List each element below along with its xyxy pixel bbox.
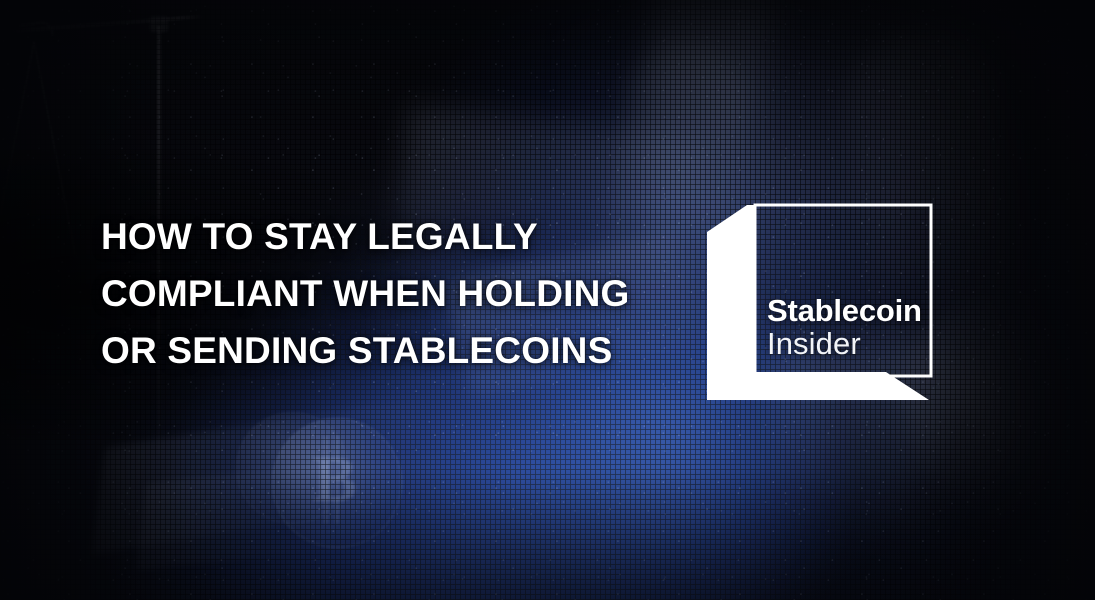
- headline-line-2: COMPLIANT WHEN HOLDING: [101, 265, 721, 322]
- brand-name: Stablecoin: [767, 294, 922, 327]
- brand-wordmark: Stablecoin Insider: [767, 294, 922, 361]
- scales-of-justice-beam-icon: [8, 14, 204, 33]
- brand-subname: Insider: [767, 327, 922, 361]
- scales-of-justice-knob-icon: [150, 16, 168, 32]
- headline-line-1: HOW TO STAY LEGALLY: [101, 208, 721, 265]
- bitcoin-symbol-icon: B: [313, 442, 353, 518]
- article-hero-banner: B HOW TO STAY LEGALLY COMPLIANT WHEN HOL…: [0, 0, 1095, 600]
- banknote-front: [136, 452, 444, 571]
- headline-line-3: OR SENDING STABLECOINS: [101, 322, 721, 379]
- page-title: HOW TO STAY LEGALLY COMPLIANT WHEN HOLDI…: [101, 208, 721, 379]
- brand-logo[interactable]: Stablecoin Insider: [703, 198, 935, 404]
- banknote-shadow: [110, 498, 450, 568]
- scales-of-justice-hook-icon: [19, 20, 54, 40]
